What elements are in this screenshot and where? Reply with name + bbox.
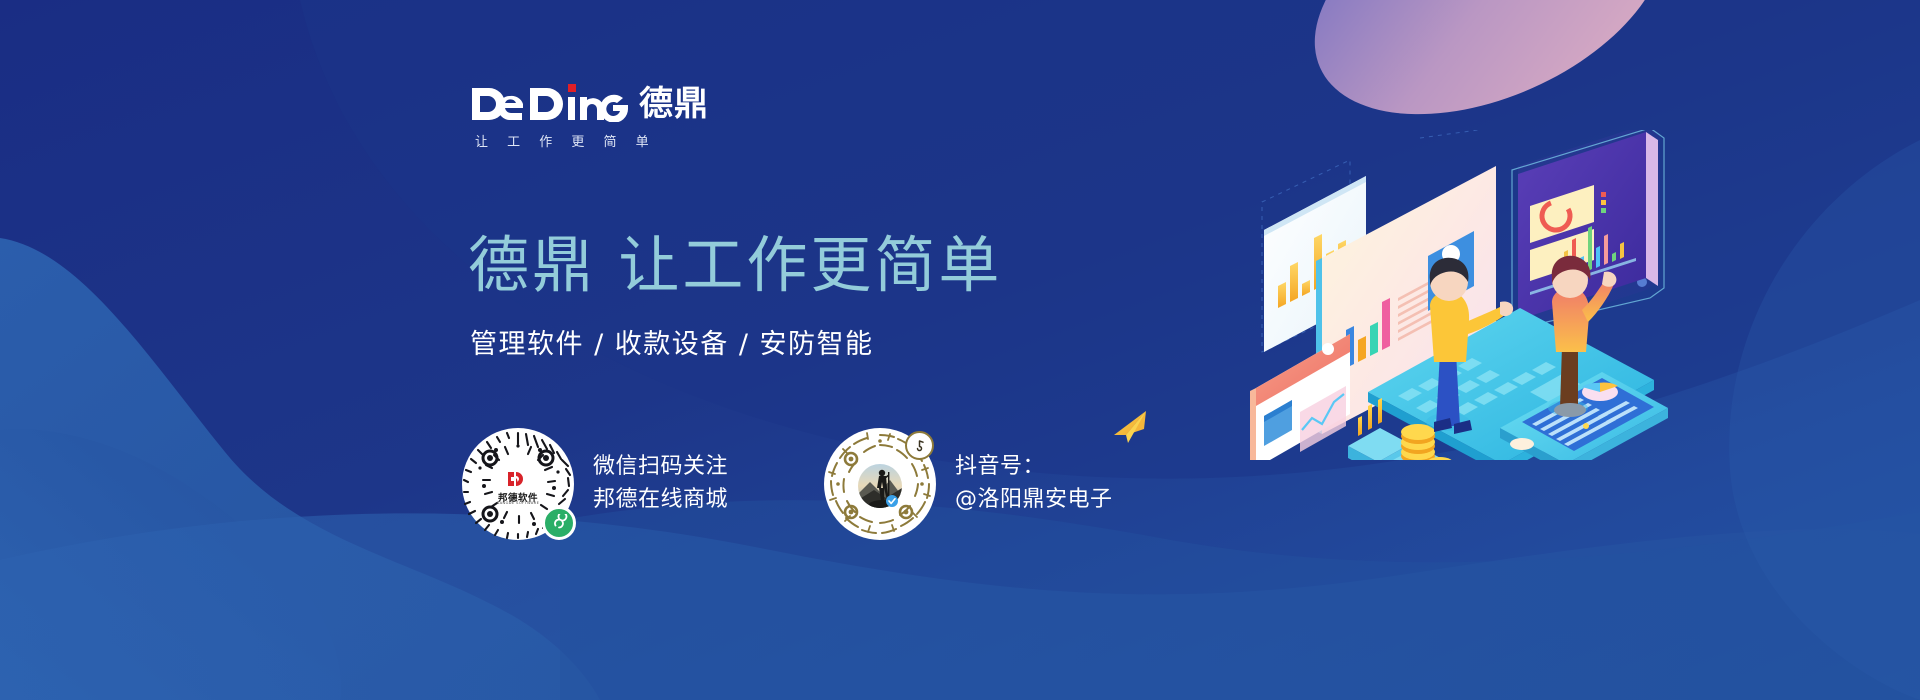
paper-plane-icon (1110, 405, 1154, 449)
marketing-banner: 德鼎 让 工 作 更 简 单 德鼎 让工作更简单 管理软件 / 收款设备 / 安… (0, 0, 1920, 700)
qr-center-logo-sub: BANGDE SOFTWARE (462, 501, 574, 505)
qr-caption-line1: 抖音号： (955, 451, 1113, 484)
brand-logo[interactable]: 德鼎 让 工 作 更 简 单 (470, 78, 790, 150)
wechat-miniprogram-icon (542, 506, 576, 540)
logo-chinese-name: 德鼎 (639, 87, 709, 122)
qr-caption-line2: @洛阳鼎安电子 (955, 484, 1113, 517)
logo-tagline: 让 工 作 更 简 单 (475, 131, 790, 150)
qr-caption-line2: 邦德在线商城 (593, 484, 728, 517)
qr-caption-wechat: 微信扫码关注 邦德在线商城 (593, 451, 728, 516)
wechat-qr-code[interactable]: 邦德软件 BANGDE SOFTWARE (462, 428, 574, 540)
qr-caption-line1: 微信扫码关注 (593, 451, 728, 484)
qr-item-wechat[interactable]: 邦德软件 BANGDE SOFTWARE 微信扫码关注 邦德在线商城 (462, 428, 728, 540)
logo-wordmark-deding (470, 78, 630, 122)
douyin-music-note-icon (905, 431, 934, 460)
qr-item-douyin[interactable]: 抖音号： @洛阳鼎安电子 (824, 428, 1113, 540)
logo-accent-dot (568, 84, 576, 92)
hero-subtitle: 管理软件 / 收款设备 / 安防智能 (470, 322, 874, 361)
douyin-qr-code[interactable] (824, 428, 936, 540)
hero-headline: 德鼎 让工作更简单 (468, 232, 1002, 300)
isometric-analytics-illustration (1250, 130, 1670, 460)
qr-caption-douyin: 抖音号： @洛阳鼎安电子 (955, 451, 1113, 516)
qr-code-row: 邦德软件 BANGDE SOFTWARE 微信扫码关注 邦德在线商城 (462, 428, 1113, 540)
